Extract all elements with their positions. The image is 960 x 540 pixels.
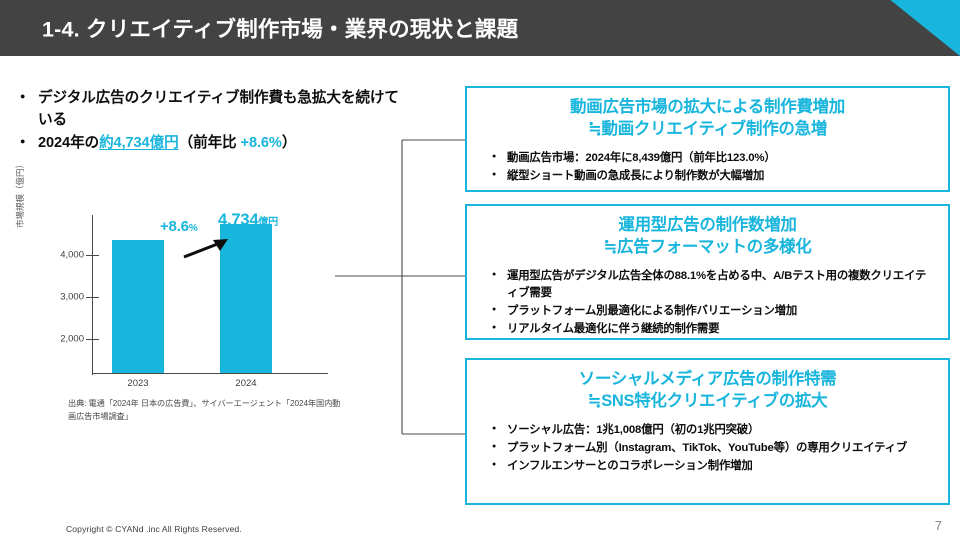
info-box-bullet-item: インフルエンサーとのコラボレーション制作増加 [492, 458, 936, 475]
info-box-bullet-item: 動画広告市場：2024年に8,439億円（前年比123.0%） [492, 150, 936, 167]
chart-y-tick-label: 3,000 [40, 292, 84, 303]
slide-header: 1-4. クリエイティブ制作市場・業界の現状と課題 [0, 0, 960, 56]
chart-y-tick-mark [86, 297, 99, 298]
info-box-title: 運用型広告の制作数増加 ≒広告フォーマットの多様化 [467, 206, 948, 259]
info-box-bullet-item: プラットフォーム別（Instagram、TikTok、YouTube等）の専用ク… [492, 440, 936, 457]
copyright-notice: Copyright © CYANd .inc All Rights Reserv… [66, 524, 242, 534]
growth-arrow-icon [182, 236, 234, 262]
info-box-bullet-item: リアルタイム最適化に伴う継続的制作需要 [492, 321, 936, 338]
lead-bullet-item: 2024年の約4,734億円（前年比 +8.6%） [18, 133, 408, 155]
info-box-social-media-ads: ソーシャルメディア広告の制作特需 ≒SNS特化クリエイティブの拡大 ソーシャル広… [465, 358, 950, 505]
chart-growth-annotation: +8.6% [160, 218, 198, 235]
chart-value-annotation: 4,734億円 [218, 211, 278, 230]
latest-value-unit: 億円 [258, 217, 278, 228]
lead-bullet-segment: デジタル広告のクリエイティブ制作費も急拡大を続けている [38, 90, 399, 128]
chart-x-axis [92, 373, 328, 374]
growth-value: +8.6 [160, 218, 189, 235]
growth-unit: % [189, 223, 198, 234]
lead-bullet-segment: （前年比 [179, 135, 241, 151]
header-accent-triangle [840, 0, 960, 56]
page-number: 7 [935, 518, 942, 533]
lead-bullet-segment: 約4,734億円 [99, 135, 179, 151]
info-box-bullet-item: プラットフォーム別最適化による制作バリエーション増加 [492, 303, 936, 320]
chart-bar [112, 240, 164, 373]
info-box-title: 動画広告市場の拡大による制作費増加 ≒動画クリエイティブ制作の急増 [467, 88, 948, 141]
info-box-bullets: ソーシャル広告：1兆1,008億円（初の1兆円突破）プラットフォーム別（Inst… [467, 422, 948, 475]
info-box-bullets: 運用型広告がデジタル広告全体の88.1%を占める中、A/Bテスト用の複数クリエイ… [467, 268, 948, 338]
chart-y-axis [92, 215, 93, 375]
info-box-bullets: 動画広告市場：2024年に8,439億円（前年比123.0%）縦型ショート動画の… [467, 150, 948, 185]
info-box-title-line-1: 運用型広告の制作数増加 [467, 215, 948, 237]
chart-y-tick-mark [86, 255, 99, 256]
info-box-bullet-item: 縦型ショート動画の急成長により制作数が大幅増加 [492, 168, 936, 185]
chart-y-tick-label: 4,000 [40, 250, 84, 261]
info-box-bullet-item: 運用型広告がデジタル広告全体の88.1%を占める中、A/Bテスト用の複数クリエイ… [492, 268, 936, 302]
info-box-performance-ads: 運用型広告の制作数増加 ≒広告フォーマットの多様化 運用型広告がデジタル広告全体… [465, 204, 950, 340]
lead-bullet-segment: +8.6% [241, 135, 282, 151]
page-title: 1-4. クリエイティブ制作市場・業界の現状と課題 [42, 13, 518, 44]
chart-y-axis-label: 市場規模（億円） [14, 128, 26, 228]
info-box-title-line-2: ≒広告フォーマットの多様化 [467, 237, 948, 259]
chart-y-tick-mark [86, 339, 99, 340]
chart-x-tick-label: 2024 [211, 378, 281, 389]
lead-bullet-item: デジタル広告のクリエイティブ制作費も急拡大を続けている [18, 88, 408, 131]
lead-bullet-segment: 2024年の [38, 135, 99, 151]
info-box-title: ソーシャルメディア広告の制作特需 ≒SNS特化クリエイティブの拡大 [467, 360, 948, 413]
lead-bullet-segment: ） [282, 135, 297, 151]
chart-y-tick-label: 2,000 [40, 334, 84, 345]
chart-source-note: 出典: 電通「2024年 日本の広告費」、サイバーエージェント「2024年国内動… [68, 398, 348, 423]
info-box-title-line-2: ≒動画クリエイティブ制作の急増 [467, 119, 948, 141]
info-box-title-line-2: ≒SNS特化クリエイティブの拡大 [467, 391, 948, 413]
chart-x-tick-label: 2023 [103, 378, 173, 389]
info-box-video-ads: 動画広告市場の拡大による制作費増加 ≒動画クリエイティブ制作の急増 動画広告市場… [465, 86, 950, 192]
info-box-title-line-1: 動画広告市場の拡大による制作費増加 [467, 97, 948, 119]
latest-value: 4,734 [218, 211, 258, 229]
info-box-bullet-item: ソーシャル広告：1兆1,008億円（初の1兆円突破） [492, 422, 936, 439]
lead-bullet-list: デジタル広告のクリエイティブ制作費も急拡大を続けている2024年の約4,734億… [18, 88, 408, 157]
info-box-title-line-1: ソーシャルメディア広告の制作特需 [467, 369, 948, 391]
